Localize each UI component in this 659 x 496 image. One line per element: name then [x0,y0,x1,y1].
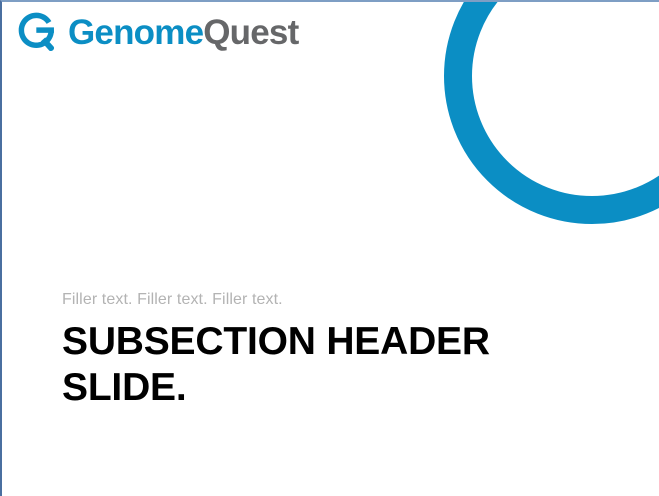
wordmark-quest: Quest [203,13,298,52]
ring-circle [458,2,659,210]
slide-title: SUBSECTION HEADER SLIDE. [62,319,532,410]
genomequest-g-mark-icon [17,11,59,53]
slide-text-block: Filler text. Filler text. Filler text. S… [62,290,622,410]
genomequest-wordmark: GenomeQuest [68,15,298,50]
eyebrow-text: Filler text. Filler text. Filler text. [62,290,622,310]
g-mark-bar-path [36,27,54,32]
wordmark-genome: Genome [68,13,203,52]
large-blue-ring-decoration [2,2,659,496]
genomequest-logo[interactable]: GenomeQuest [17,10,298,54]
presentation-slide: GenomeQuest Filler text. Filler text. Fi… [0,0,659,496]
